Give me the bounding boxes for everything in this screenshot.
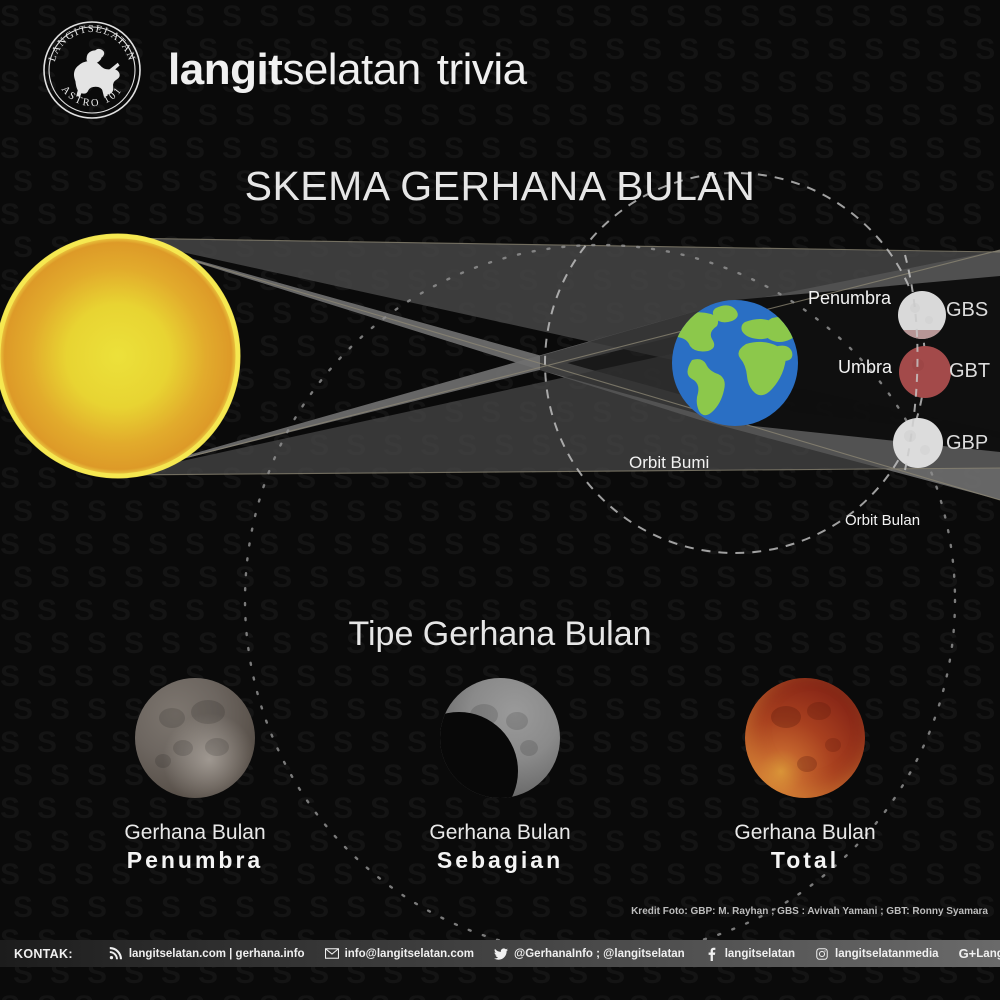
contact-footer-bar: KONTAK: langitselatan.com | gerhana.info… <box>0 940 1000 967</box>
envelope-icon <box>325 947 339 961</box>
total-eclipse-rim-glow <box>745 678 865 798</box>
twitter-icon <box>494 947 508 961</box>
brand-wordmark: langitselatantrivia <box>168 48 527 92</box>
moon-caption-top: Gerhana Bulan <box>410 821 590 845</box>
moon-caption-bottom: Sebagian <box>410 847 590 874</box>
footer-item-email[interactable]: info@langitselatan.com <box>315 940 484 967</box>
googleplus-icon: G+ <box>959 946 977 961</box>
moon-type-card-total: Gerhana Bulan Total <box>715 678 895 874</box>
footer-facebook-text: langitselatan <box>725 948 795 960</box>
label-penumbra: Penumbra <box>808 288 891 309</box>
brand-langit: langit <box>168 45 282 94</box>
moon-type-gallery: Gerhana Bulan Penumbra Gerhana Bulan Seb… <box>0 678 1000 874</box>
facebook-icon <box>705 947 719 961</box>
footer-item-instagram[interactable]: langitselatanmedia <box>805 940 949 967</box>
label-gbp: GBP <box>946 432 988 455</box>
moon-caption-top: Gerhana Bulan <box>715 821 895 845</box>
label-gbt: GBT <box>949 360 990 383</box>
footer-googleplus-text: LangitselatanMedia <box>976 948 1000 960</box>
moon-partial-photo <box>440 678 560 798</box>
instagram-icon <box>815 947 829 961</box>
moon-caption-bottom: Total <box>715 847 895 874</box>
footer-item-website[interactable]: langitselatan.com | gerhana.info <box>99 940 315 967</box>
moon-gbp-body <box>893 418 943 468</box>
label-gbs: GBS <box>946 299 988 322</box>
moon-caption-top: Gerhana Bulan <box>105 821 285 845</box>
brand-trivia: trivia <box>437 45 527 94</box>
label-orbit-bulan: Orbit Bulan <box>845 512 920 529</box>
photo-credit-line: Kredit Foto: GBP: M. Rayhan ; GBS : Aviv… <box>631 906 988 917</box>
footer-item-twitter[interactable]: @GerhanaInfo ; @langitselatan <box>484 940 695 967</box>
section-title-tipe: Tipe Gerhana Bulan <box>0 615 1000 654</box>
langitselatan-logo-icon[interactable]: LANGITSELATAN ASTRO 101 <box>40 18 144 122</box>
sun-body <box>0 234 240 478</box>
footer-instagram-text: langitselatanmedia <box>835 948 939 960</box>
infographic-page: SSSSSSSSSSSSSSSSSSSSSSSSSSSSSSSSSSSSSSSS… <box>0 0 1000 1000</box>
brand-header: LANGITSELATAN ASTRO 101 langitselatantri… <box>40 18 527 122</box>
label-orbit-bumi: Orbit Bumi <box>629 453 709 473</box>
footer-kontak-label: KONTAK: <box>0 940 99 967</box>
footer-item-facebook[interactable]: langitselatan <box>695 940 805 967</box>
footer-email-text: info@langitselatan.com <box>345 948 474 960</box>
footer-twitter-text: @GerhanaInfo ; @langitselatan <box>514 948 685 960</box>
svg-text:ASTRO 101: ASTRO 101 <box>59 84 125 109</box>
footer-website-text: langitselatan.com | gerhana.info <box>129 948 305 960</box>
moon-total-photo <box>745 678 865 798</box>
moon-type-card-penumbra: Gerhana Bulan Penumbra <box>105 678 285 874</box>
moon-caption-bottom: Penumbra <box>105 847 285 874</box>
footer-item-googleplus[interactable]: G+LangitselatanMedia <box>949 940 1000 967</box>
moon-gbt-body <box>899 346 951 398</box>
moon-penumbral-photo <box>135 678 255 798</box>
rss-icon <box>109 947 123 961</box>
brand-selatan: selatan <box>282 45 420 94</box>
page-title-skema: SKEMA GERHANA BULAN <box>0 163 1000 210</box>
moon-type-card-sebagian: Gerhana Bulan Sebagian <box>410 678 590 874</box>
label-umbra: Umbra <box>838 357 892 378</box>
